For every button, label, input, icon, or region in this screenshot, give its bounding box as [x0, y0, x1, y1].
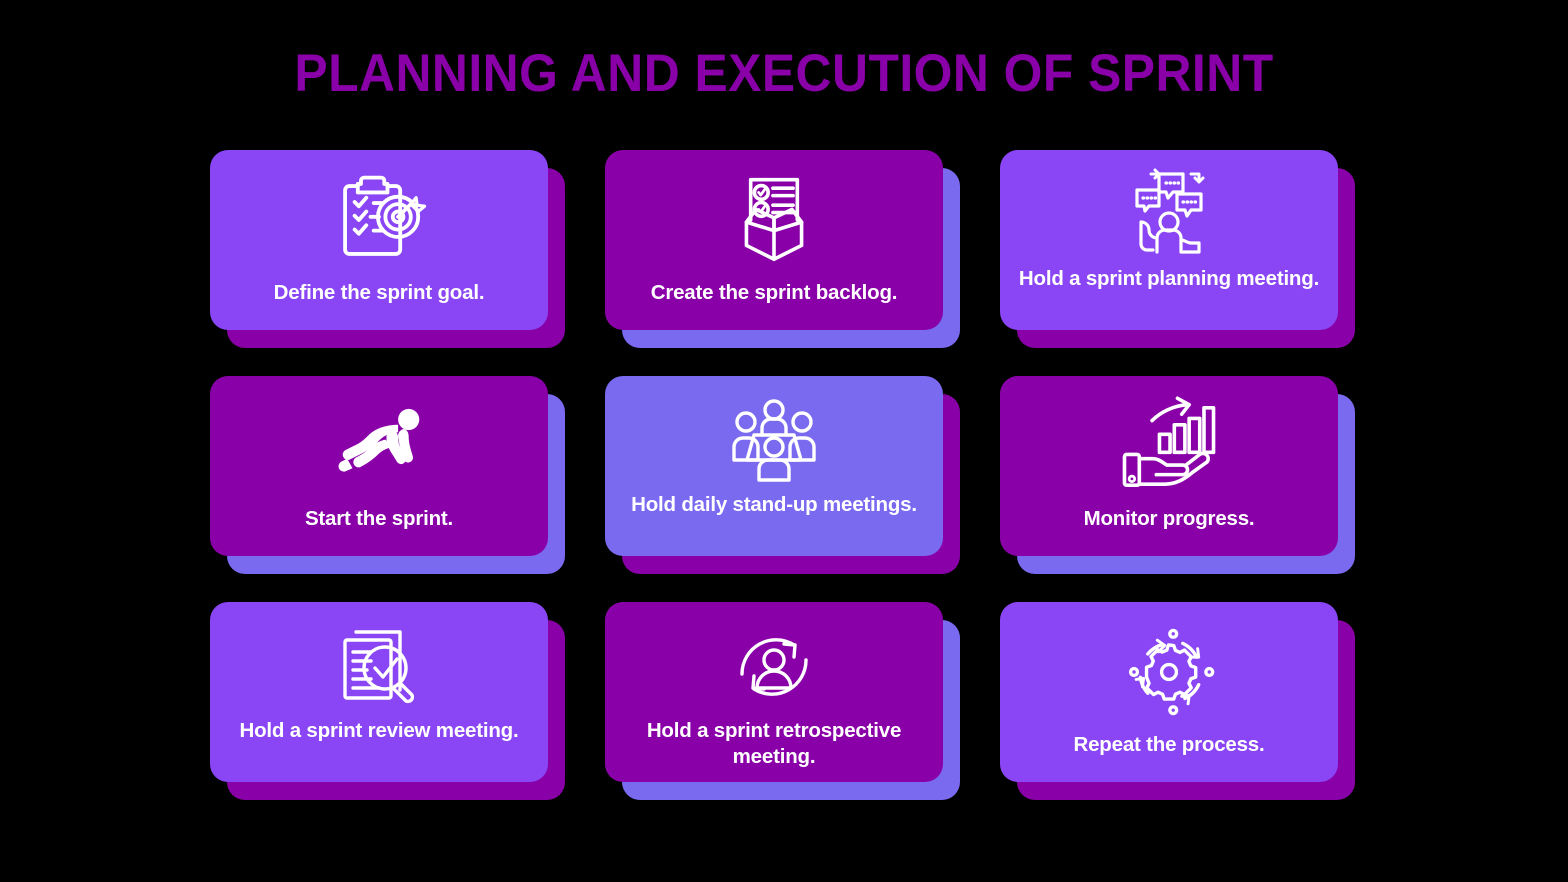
card-9-label: Repeat the process. — [1016, 732, 1322, 758]
card-3-label: Hold a sprint planning meeting. — [1016, 266, 1322, 292]
meeting-table-people-icon — [721, 390, 827, 490]
page-title: PLANNING AND EXECUTION OF SPRINT — [47, 44, 1521, 104]
person-refresh-cycle-icon — [721, 616, 827, 716]
card-1[interactable]: Define the sprint goal. — [210, 150, 548, 330]
document-magnifier-check-icon — [326, 616, 432, 716]
card-6-face[interactable]: Monitor progress. — [1000, 376, 1338, 556]
card-4[interactable]: Start the sprint. — [210, 376, 548, 556]
card-9[interactable]: Repeat the process. — [1000, 602, 1338, 782]
gear-cycle-arrows-icon — [1116, 616, 1222, 728]
card-7[interactable]: Hold a sprint review meeting. — [210, 602, 548, 782]
card-5-face[interactable]: Hold daily stand-up meetings. — [605, 376, 943, 556]
card-4-face[interactable]: Start the sprint. — [210, 376, 548, 556]
card-2-label: Create the sprint backlog. — [621, 280, 927, 306]
card-2-face[interactable]: Create the sprint backlog. — [605, 150, 943, 330]
card-6[interactable]: Monitor progress. — [1000, 376, 1338, 556]
person-speech-bubbles-icon — [1116, 164, 1222, 264]
card-8[interactable]: Hold a sprint retrospective meeting. — [605, 602, 943, 782]
card-7-label: Hold a sprint review meeting. — [226, 718, 532, 744]
card-5-label: Hold daily stand-up meetings. — [621, 492, 927, 518]
open-box-checklist-icon — [721, 164, 827, 276]
card-9-face[interactable]: Repeat the process. — [1000, 602, 1338, 782]
hand-growth-chart-icon — [1116, 390, 1222, 502]
card-3-face[interactable]: Hold a sprint planning meeting. — [1000, 150, 1338, 330]
card-6-label: Monitor progress. — [1016, 506, 1322, 532]
card-3[interactable]: Hold a sprint planning meeting. — [1000, 150, 1338, 330]
card-2[interactable]: Create the sprint backlog. — [605, 150, 943, 330]
sprinter-start-icon — [326, 390, 432, 502]
card-1-label: Define the sprint goal. — [226, 280, 532, 306]
infographic-root: PLANNING AND EXECUTION OF SPRINT — [0, 0, 1568, 882]
card-5[interactable]: Hold daily stand-up meetings. — [605, 376, 943, 556]
card-8-label: Hold a sprint retrospective meeting. — [621, 718, 927, 770]
card-7-face[interactable]: Hold a sprint review meeting. — [210, 602, 548, 782]
card-1-face[interactable]: Define the sprint goal. — [210, 150, 548, 330]
clipboard-target-icon — [326, 164, 432, 276]
card-4-label: Start the sprint. — [226, 506, 532, 532]
card-8-face[interactable]: Hold a sprint retrospective meeting. — [605, 602, 943, 782]
card-grid: Define the sprint goal. — [210, 150, 1358, 800]
